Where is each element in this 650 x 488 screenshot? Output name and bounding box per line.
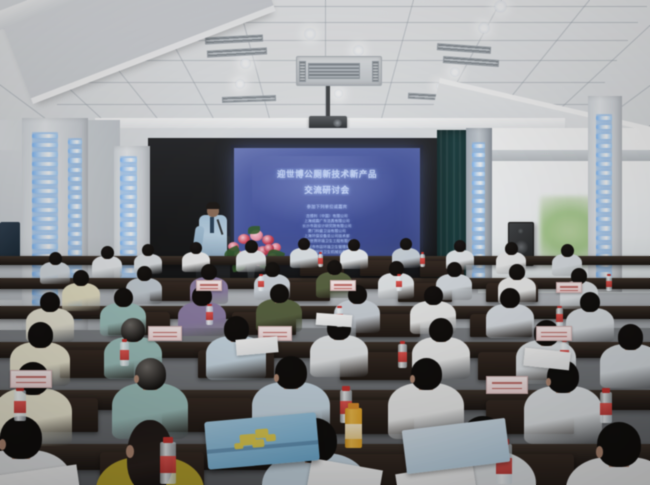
led-slat bbox=[596, 162, 612, 166]
desk-name-card bbox=[536, 326, 572, 341]
juice-bottle bbox=[345, 408, 362, 448]
led-slat bbox=[472, 144, 485, 148]
name-card-text-line bbox=[263, 332, 287, 333]
water-bottle bbox=[556, 308, 563, 327]
desk-name-card bbox=[196, 280, 222, 291]
water-bottle bbox=[120, 342, 129, 366]
attendee bbox=[290, 238, 318, 270]
led-slat bbox=[120, 167, 137, 171]
water-bottle bbox=[318, 254, 323, 267]
water-bottle bbox=[600, 392, 612, 423]
attendee bbox=[600, 324, 650, 393]
ceiling-downlight bbox=[235, 79, 245, 89]
bottle-cap bbox=[607, 274, 611, 276]
bottle-label bbox=[14, 401, 26, 413]
led-slat bbox=[596, 116, 612, 120]
led-slat bbox=[472, 199, 485, 203]
bottle-cap bbox=[400, 341, 406, 345]
ceiling-air-vent bbox=[222, 95, 276, 103]
desk-name-card bbox=[148, 326, 182, 341]
led-slat bbox=[596, 217, 612, 221]
bottle-cap bbox=[348, 403, 359, 409]
bottle-cap bbox=[337, 306, 341, 309]
conference-room-photo: 迎世博公厕新技术新产品 交流研讨会 参加下列单位或嘉宾 吉博利（中国）有限公司上… bbox=[0, 0, 650, 488]
attendee-torso bbox=[290, 248, 318, 268]
name-card-text-line bbox=[560, 290, 578, 291]
attendee-head bbox=[505, 242, 518, 255]
led-slat bbox=[596, 171, 612, 175]
attendee-head bbox=[28, 322, 53, 348]
water-bottle bbox=[398, 344, 407, 368]
bottle-label bbox=[120, 350, 129, 360]
led-slat bbox=[32, 198, 58, 202]
led-slat bbox=[120, 195, 137, 199]
name-card-text-line bbox=[560, 286, 578, 287]
ceiling-downlight bbox=[304, 28, 316, 40]
window-header-panel bbox=[478, 150, 650, 161]
attendee-head bbox=[500, 288, 520, 308]
led-slat bbox=[472, 190, 485, 194]
led-slat bbox=[120, 213, 137, 217]
attendee bbox=[96, 420, 204, 488]
attendee bbox=[566, 422, 650, 488]
led-slat bbox=[596, 208, 612, 212]
name-card-text-line bbox=[492, 388, 522, 389]
name-card-text-line bbox=[492, 382, 522, 383]
attendee-head bbox=[411, 358, 442, 390]
attendee-head bbox=[597, 422, 641, 467]
name-card-text-line bbox=[16, 376, 46, 377]
attendee-head bbox=[142, 244, 154, 256]
air-conditioner-grille-icon bbox=[308, 63, 360, 79]
ceiling-air-vent bbox=[443, 56, 499, 67]
ceiling-downlight bbox=[450, 67, 460, 77]
attendee-head bbox=[447, 262, 462, 277]
air-vent-icon bbox=[372, 61, 379, 82]
ceiling-air-vent bbox=[207, 47, 267, 57]
bottle-cap bbox=[602, 388, 610, 393]
air-vent-icon bbox=[299, 61, 306, 82]
bottle-cap bbox=[557, 306, 561, 309]
attendee-head bbox=[114, 288, 133, 307]
paper-handout bbox=[316, 313, 353, 327]
water-bottle bbox=[206, 306, 213, 325]
led-slat bbox=[68, 186, 82, 190]
attendee-head bbox=[135, 358, 166, 390]
attendee-head bbox=[327, 260, 342, 275]
bottle-cap bbox=[207, 304, 211, 307]
led-slat bbox=[596, 125, 612, 129]
attendee-head bbox=[618, 324, 643, 350]
bottle-cap bbox=[163, 437, 173, 443]
bottle-cap bbox=[421, 252, 424, 254]
desk-name-card bbox=[486, 376, 528, 394]
led-slat bbox=[472, 181, 485, 185]
bottle-label bbox=[396, 281, 402, 287]
led-slat bbox=[596, 144, 612, 148]
led-slat bbox=[472, 208, 485, 212]
name-card-text-line bbox=[153, 336, 177, 337]
name-card-text-line bbox=[153, 332, 177, 333]
led-slat bbox=[68, 177, 82, 181]
led-slat bbox=[596, 134, 612, 138]
attendee-ear bbox=[134, 375, 139, 383]
attendee-head bbox=[0, 416, 42, 459]
screen-light-bloom bbox=[252, 156, 402, 226]
led-slat bbox=[32, 217, 58, 221]
name-card-text-line bbox=[334, 284, 352, 285]
seated-attendees bbox=[0, 230, 650, 488]
bottle-cap bbox=[122, 339, 128, 343]
ceiling-downlight bbox=[353, 45, 364, 56]
led-slat bbox=[596, 153, 612, 157]
ceiling-downlight bbox=[494, 0, 507, 13]
led-slat bbox=[32, 152, 58, 156]
folder-graphic bbox=[234, 443, 243, 450]
water-bottle bbox=[14, 390, 26, 421]
attendee-torso bbox=[600, 344, 650, 388]
desk-name-card bbox=[330, 280, 356, 291]
led-slat bbox=[32, 189, 58, 193]
bottle-label bbox=[556, 314, 563, 322]
led-slat bbox=[596, 190, 612, 194]
name-card-text-line bbox=[200, 288, 218, 289]
water-bottle bbox=[420, 254, 425, 267]
led-slat bbox=[68, 223, 82, 227]
bottle-label bbox=[318, 258, 323, 263]
ceiling-downlight bbox=[478, 22, 490, 34]
attendee-head bbox=[265, 262, 280, 277]
ceiling-downlight bbox=[334, 89, 343, 98]
led-slat bbox=[120, 186, 137, 190]
attendee-head bbox=[454, 240, 466, 252]
conference-folder bbox=[204, 412, 320, 470]
bottle-label bbox=[398, 352, 407, 362]
attendee-head bbox=[40, 292, 60, 312]
attendee-head bbox=[429, 318, 453, 342]
projector-lens-icon bbox=[333, 119, 342, 127]
water-bottle bbox=[160, 442, 176, 484]
led-slat bbox=[120, 176, 137, 180]
name-card-text-line bbox=[541, 336, 567, 337]
name-card-text-line bbox=[541, 332, 567, 333]
led-slat bbox=[120, 158, 137, 162]
desk-name-card bbox=[10, 370, 52, 388]
attendee-head bbox=[509, 264, 525, 280]
bottle-label bbox=[420, 258, 425, 263]
bottle-label bbox=[160, 456, 176, 473]
bottle-label bbox=[258, 281, 264, 287]
bottle-label bbox=[206, 312, 213, 320]
attendee-head bbox=[270, 284, 289, 303]
led-slat bbox=[68, 214, 82, 218]
name-card-text-line bbox=[200, 284, 218, 285]
name-card-text-line bbox=[16, 382, 46, 383]
bottle-label bbox=[345, 424, 362, 439]
led-slat bbox=[596, 199, 612, 203]
attendee-head bbox=[275, 356, 307, 389]
led-slat bbox=[120, 204, 137, 208]
water-bottle bbox=[258, 276, 264, 291]
attendee-head bbox=[348, 239, 360, 251]
led-slat bbox=[596, 180, 612, 184]
bottle-label bbox=[600, 403, 612, 415]
led-slat bbox=[68, 195, 82, 199]
led-slat bbox=[32, 134, 58, 138]
led-slat bbox=[68, 140, 82, 144]
led-slat bbox=[68, 204, 82, 208]
led-slat bbox=[32, 180, 58, 184]
led-slat bbox=[32, 162, 58, 166]
led-slat bbox=[32, 171, 58, 175]
projector-mount-pole bbox=[326, 86, 330, 119]
attendee-head bbox=[245, 240, 258, 253]
led-slat bbox=[32, 143, 58, 147]
led-slat bbox=[120, 222, 137, 226]
desk-name-card bbox=[556, 282, 582, 293]
water-bottle bbox=[606, 276, 612, 291]
attendee-head bbox=[298, 238, 310, 250]
attendee-ear bbox=[126, 445, 134, 457]
led-slat bbox=[68, 149, 82, 153]
led-slat bbox=[32, 208, 58, 212]
attendee-head bbox=[137, 266, 152, 281]
attendee-head bbox=[400, 238, 412, 250]
attendee-ear bbox=[410, 375, 415, 383]
attendee-head bbox=[424, 286, 443, 305]
water-bottle bbox=[396, 276, 402, 291]
led-slat bbox=[472, 218, 485, 222]
led-slat bbox=[472, 153, 485, 157]
name-card-text-line bbox=[334, 288, 352, 289]
bottle-cap bbox=[342, 386, 350, 391]
attendee-head bbox=[73, 270, 89, 286]
attendee-head bbox=[389, 261, 404, 276]
attendee-head bbox=[101, 246, 114, 259]
bottle-label bbox=[606, 281, 612, 287]
attendee-head bbox=[190, 242, 202, 254]
attendee-head bbox=[580, 292, 600, 312]
led-slat bbox=[472, 172, 485, 176]
ceiling-downlight bbox=[240, 58, 251, 69]
folder-graphic bbox=[265, 434, 276, 442]
bottle-cap bbox=[319, 252, 322, 254]
presenter-hair bbox=[206, 202, 220, 209]
attendee-head bbox=[49, 252, 62, 265]
led-slat bbox=[472, 162, 485, 166]
bottle-cap bbox=[397, 274, 401, 276]
ceiling-air-vent bbox=[205, 34, 263, 44]
led-slat bbox=[68, 168, 82, 172]
attendee-head bbox=[561, 244, 574, 257]
attendee-head bbox=[224, 316, 249, 342]
attendee-head bbox=[201, 264, 217, 280]
folder-graphic bbox=[252, 439, 265, 448]
led-slat bbox=[68, 158, 82, 162]
bottle-cap bbox=[259, 274, 263, 276]
ceiling-air-vent bbox=[437, 43, 491, 54]
